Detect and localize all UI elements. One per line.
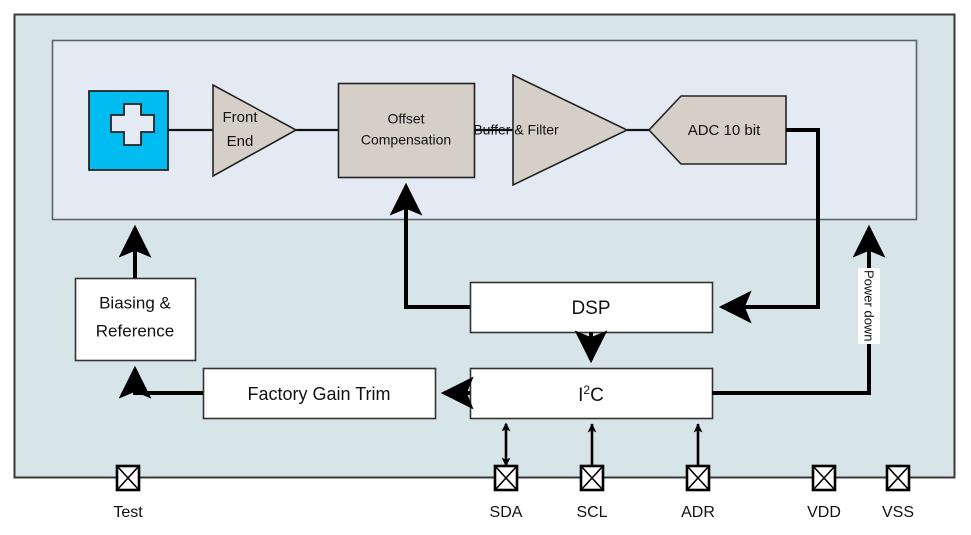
offset-compensation-block: Offset Compensation (339, 84, 475, 178)
pad-test[interactable]: Test (113, 466, 143, 521)
i2c-block: I2C (471, 369, 713, 419)
adc-label: ADC 10 bit (688, 122, 761, 139)
biasing-reference-label-line2: Reference (96, 321, 174, 340)
factory-gain-trim-block: Factory Gain Trim (204, 369, 436, 419)
pad-vss-label: VSS (882, 504, 914, 521)
pad-adr-label: ADR (681, 504, 715, 521)
diagram-svg: Front End Offset Compensation Buffer & F… (0, 0, 971, 535)
offset-compensation-label-line2: Compensation (361, 132, 451, 148)
pad-test-label: Test (113, 504, 143, 521)
block-diagram-canvas: Front End Offset Compensation Buffer & F… (0, 0, 971, 535)
i2c-label-tail: C (590, 385, 604, 406)
power-down-annotation: Power down (858, 268, 880, 344)
pad-scl-label: SCL (576, 504, 607, 521)
offset-compensation-label-line1: Offset (387, 111, 424, 127)
pad-vdd[interactable]: VDD (807, 466, 841, 521)
pad-sda[interactable]: SDA (490, 466, 523, 521)
pad-vss[interactable]: VSS (882, 466, 914, 521)
factory-gain-trim-label: Factory Gain Trim (247, 384, 390, 404)
biasing-reference-block: Biasing & Reference (76, 279, 196, 361)
buffer-filter-label: Buffer & Filter (473, 122, 559, 138)
pad-sda-label: SDA (490, 504, 523, 521)
pad-scl[interactable]: SCL (576, 466, 607, 521)
i2c-label: I2C (578, 383, 604, 406)
biasing-reference-label-line1: Biasing & (99, 293, 171, 312)
front-end-label-line2: End (227, 133, 254, 150)
pad-adr[interactable]: ADR (681, 466, 715, 521)
pad-vdd-label: VDD (807, 504, 841, 521)
power-down-label: Power down (862, 270, 877, 342)
dsp-block: DSP (471, 283, 713, 333)
front-end-label-line1: Front (222, 109, 258, 126)
dsp-label: DSP (571, 298, 610, 319)
